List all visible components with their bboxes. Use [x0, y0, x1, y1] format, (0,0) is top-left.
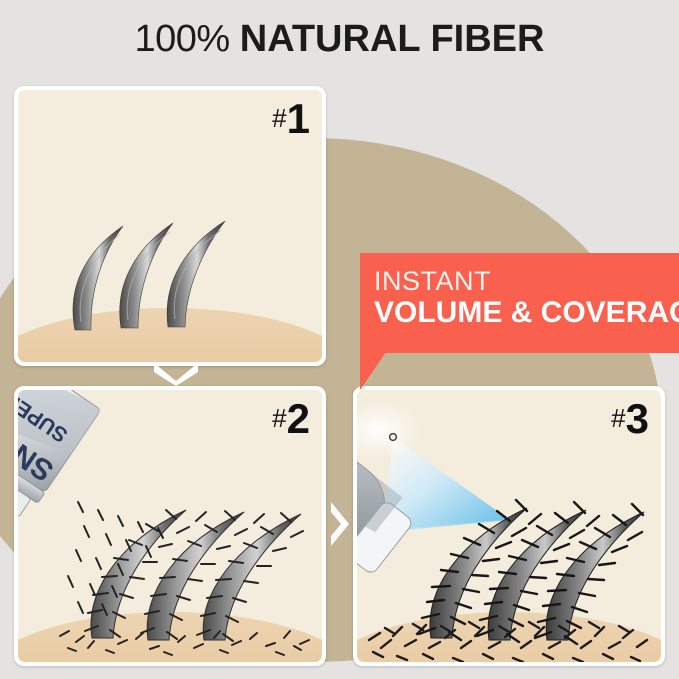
promo-banner-line2: VOLUME & COVERAGE: [374, 295, 679, 330]
step-badge-1-hash: #: [272, 103, 286, 133]
step-badge-2: #2: [272, 398, 310, 440]
step-panel-3[interactable]: SUPER HAIR: [353, 386, 665, 666]
step-badge-1: #1: [272, 98, 310, 140]
step-badge-2-number: 2: [287, 395, 310, 442]
step-badge-3-hash: #: [611, 403, 625, 433]
step-panel-1[interactable]: #1: [14, 86, 326, 366]
banner-tail: [360, 352, 386, 390]
promo-banner[interactable]: INSTANT VOLUME & COVERAGE: [360, 253, 679, 353]
chevron-down-icon: [152, 360, 200, 386]
step-badge-3-number: 3: [626, 395, 649, 442]
step-panel-2-inner: SUPER MILLION SN #2: [18, 390, 322, 662]
page-title: 100% NATURAL FIBER: [0, 18, 679, 61]
promo-banner-line1: INSTANT: [374, 267, 679, 295]
page-title-light: 100%: [135, 18, 230, 60]
infographic-stage: 100% NATURAL FIBER: [0, 0, 679, 679]
step-panel-2[interactable]: SUPER MILLION SN #2: [14, 386, 326, 666]
step-panel-3-inner: SUPER HAIR: [357, 390, 661, 662]
step-badge-3: #3: [611, 398, 649, 440]
chevron-right-icon: [328, 500, 352, 548]
step-badge-2-hash: #: [272, 403, 286, 433]
page-title-bold: NATURAL FIBER: [240, 18, 545, 60]
step-panel-1-inner: #1: [18, 90, 322, 362]
step-badge-1-number: 1: [287, 95, 310, 142]
